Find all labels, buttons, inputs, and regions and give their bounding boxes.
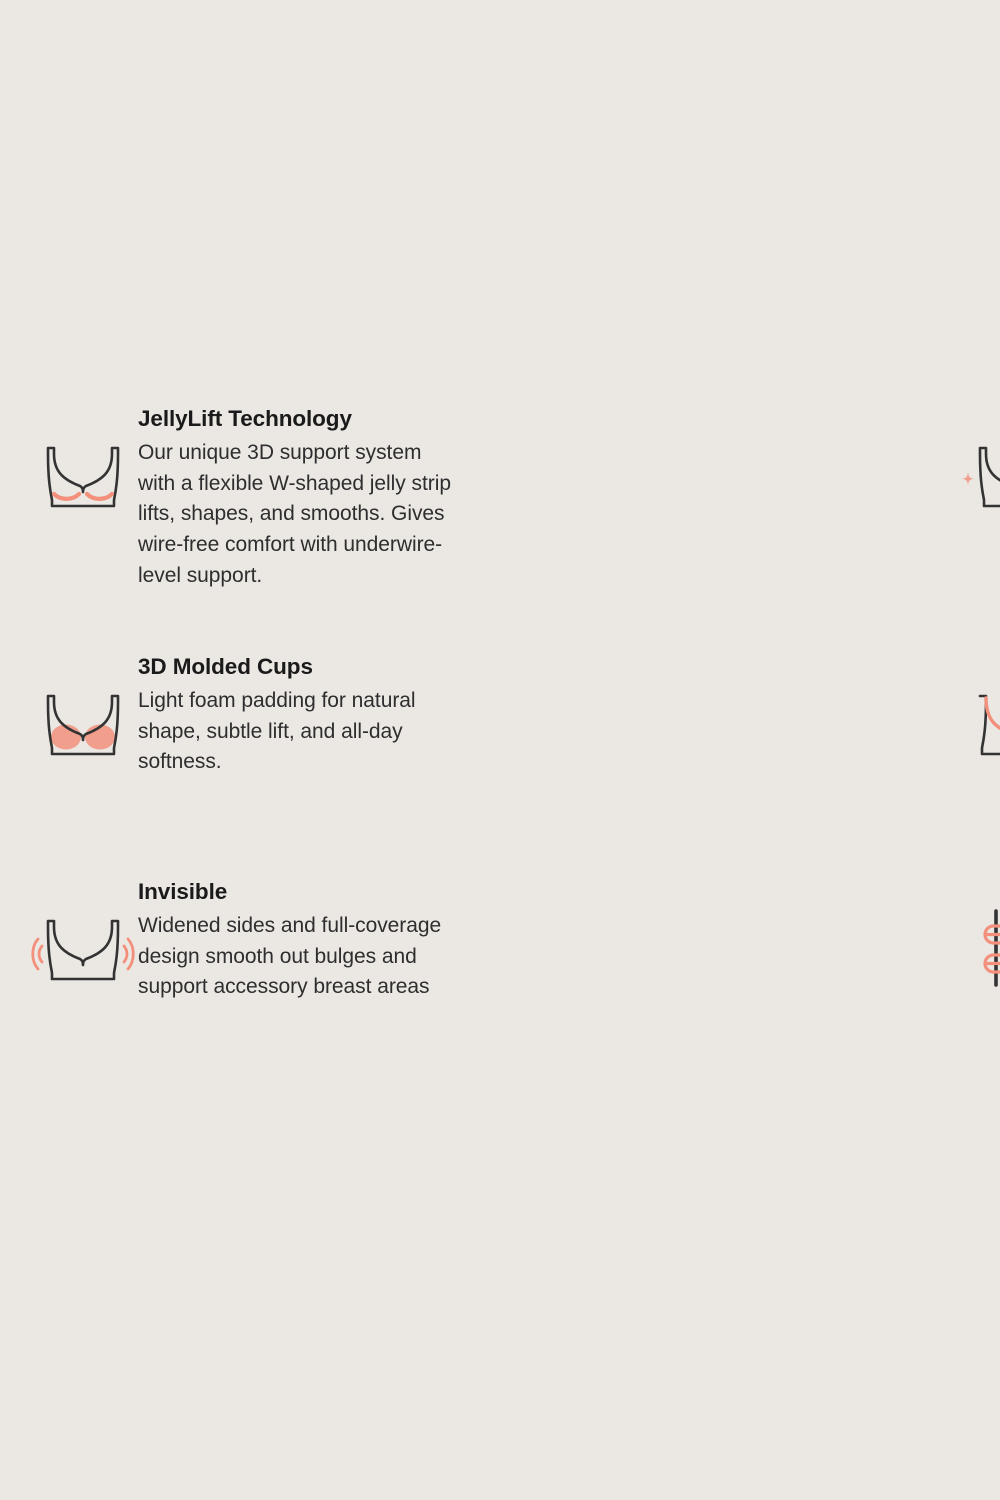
- feature-item-3d-molded-cups: 3D Molded Cups Light foam padding for na…: [0, 652, 470, 877]
- feature-item-invisible: Invisible Widened sides and full-coverag…: [0, 877, 470, 1067]
- feature-body: Light foam padding for natural shape, su…: [138, 686, 456, 779]
- bra-with-molded-cups-icon: [28, 652, 138, 768]
- wave-left-outer: [33, 939, 38, 969]
- feature-item-jellylift-technology: JellyLift Technology Our unique 3D suppo…: [0, 404, 470, 652]
- feature-title: 3D Molded Cups: [138, 652, 470, 682]
- bra-with-waves-icon: [28, 877, 138, 993]
- feature-text-block: Invisible Widened sides and full-coverag…: [138, 877, 470, 1003]
- feature-body: Widened sides and full-coverage design s…: [138, 911, 456, 1004]
- bra-with-jelly-strip-icon: [28, 404, 138, 520]
- feature-item-seamless-breathable: Seamless & Breathable A smooth, invisibl…: [482, 404, 960, 652]
- feature-title: Invisible: [138, 877, 470, 907]
- adjustable-strap-sliders-icon: [960, 877, 1000, 989]
- sparkle-small: [962, 472, 974, 486]
- bra-with-sparkles-icon: [960, 404, 1000, 520]
- bra-with-v-neckline-icon: [960, 652, 1000, 768]
- feature-item-adjustable-straps: Adjustable Straps Adjustable, non-slip s…: [482, 877, 960, 1067]
- wave-left-inner: [39, 946, 42, 962]
- feature-title: JellyLift Technology: [138, 404, 470, 434]
- feature-grid: JellyLift Technology Our unique 3D suppo…: [0, 404, 1000, 1067]
- wave-right-inner: [124, 946, 127, 962]
- feature-text-block: 3D Molded Cups Light foam padding for na…: [138, 652, 470, 778]
- wave-right-outer: [128, 939, 133, 969]
- feature-item-v-neckline: V-Neckline Deep V plunge neckline enhanc…: [482, 652, 960, 877]
- feature-body: Our unique 3D support system with a flex…: [138, 438, 456, 592]
- feature-text-block: JellyLift Technology Our unique 3D suppo…: [138, 404, 470, 592]
